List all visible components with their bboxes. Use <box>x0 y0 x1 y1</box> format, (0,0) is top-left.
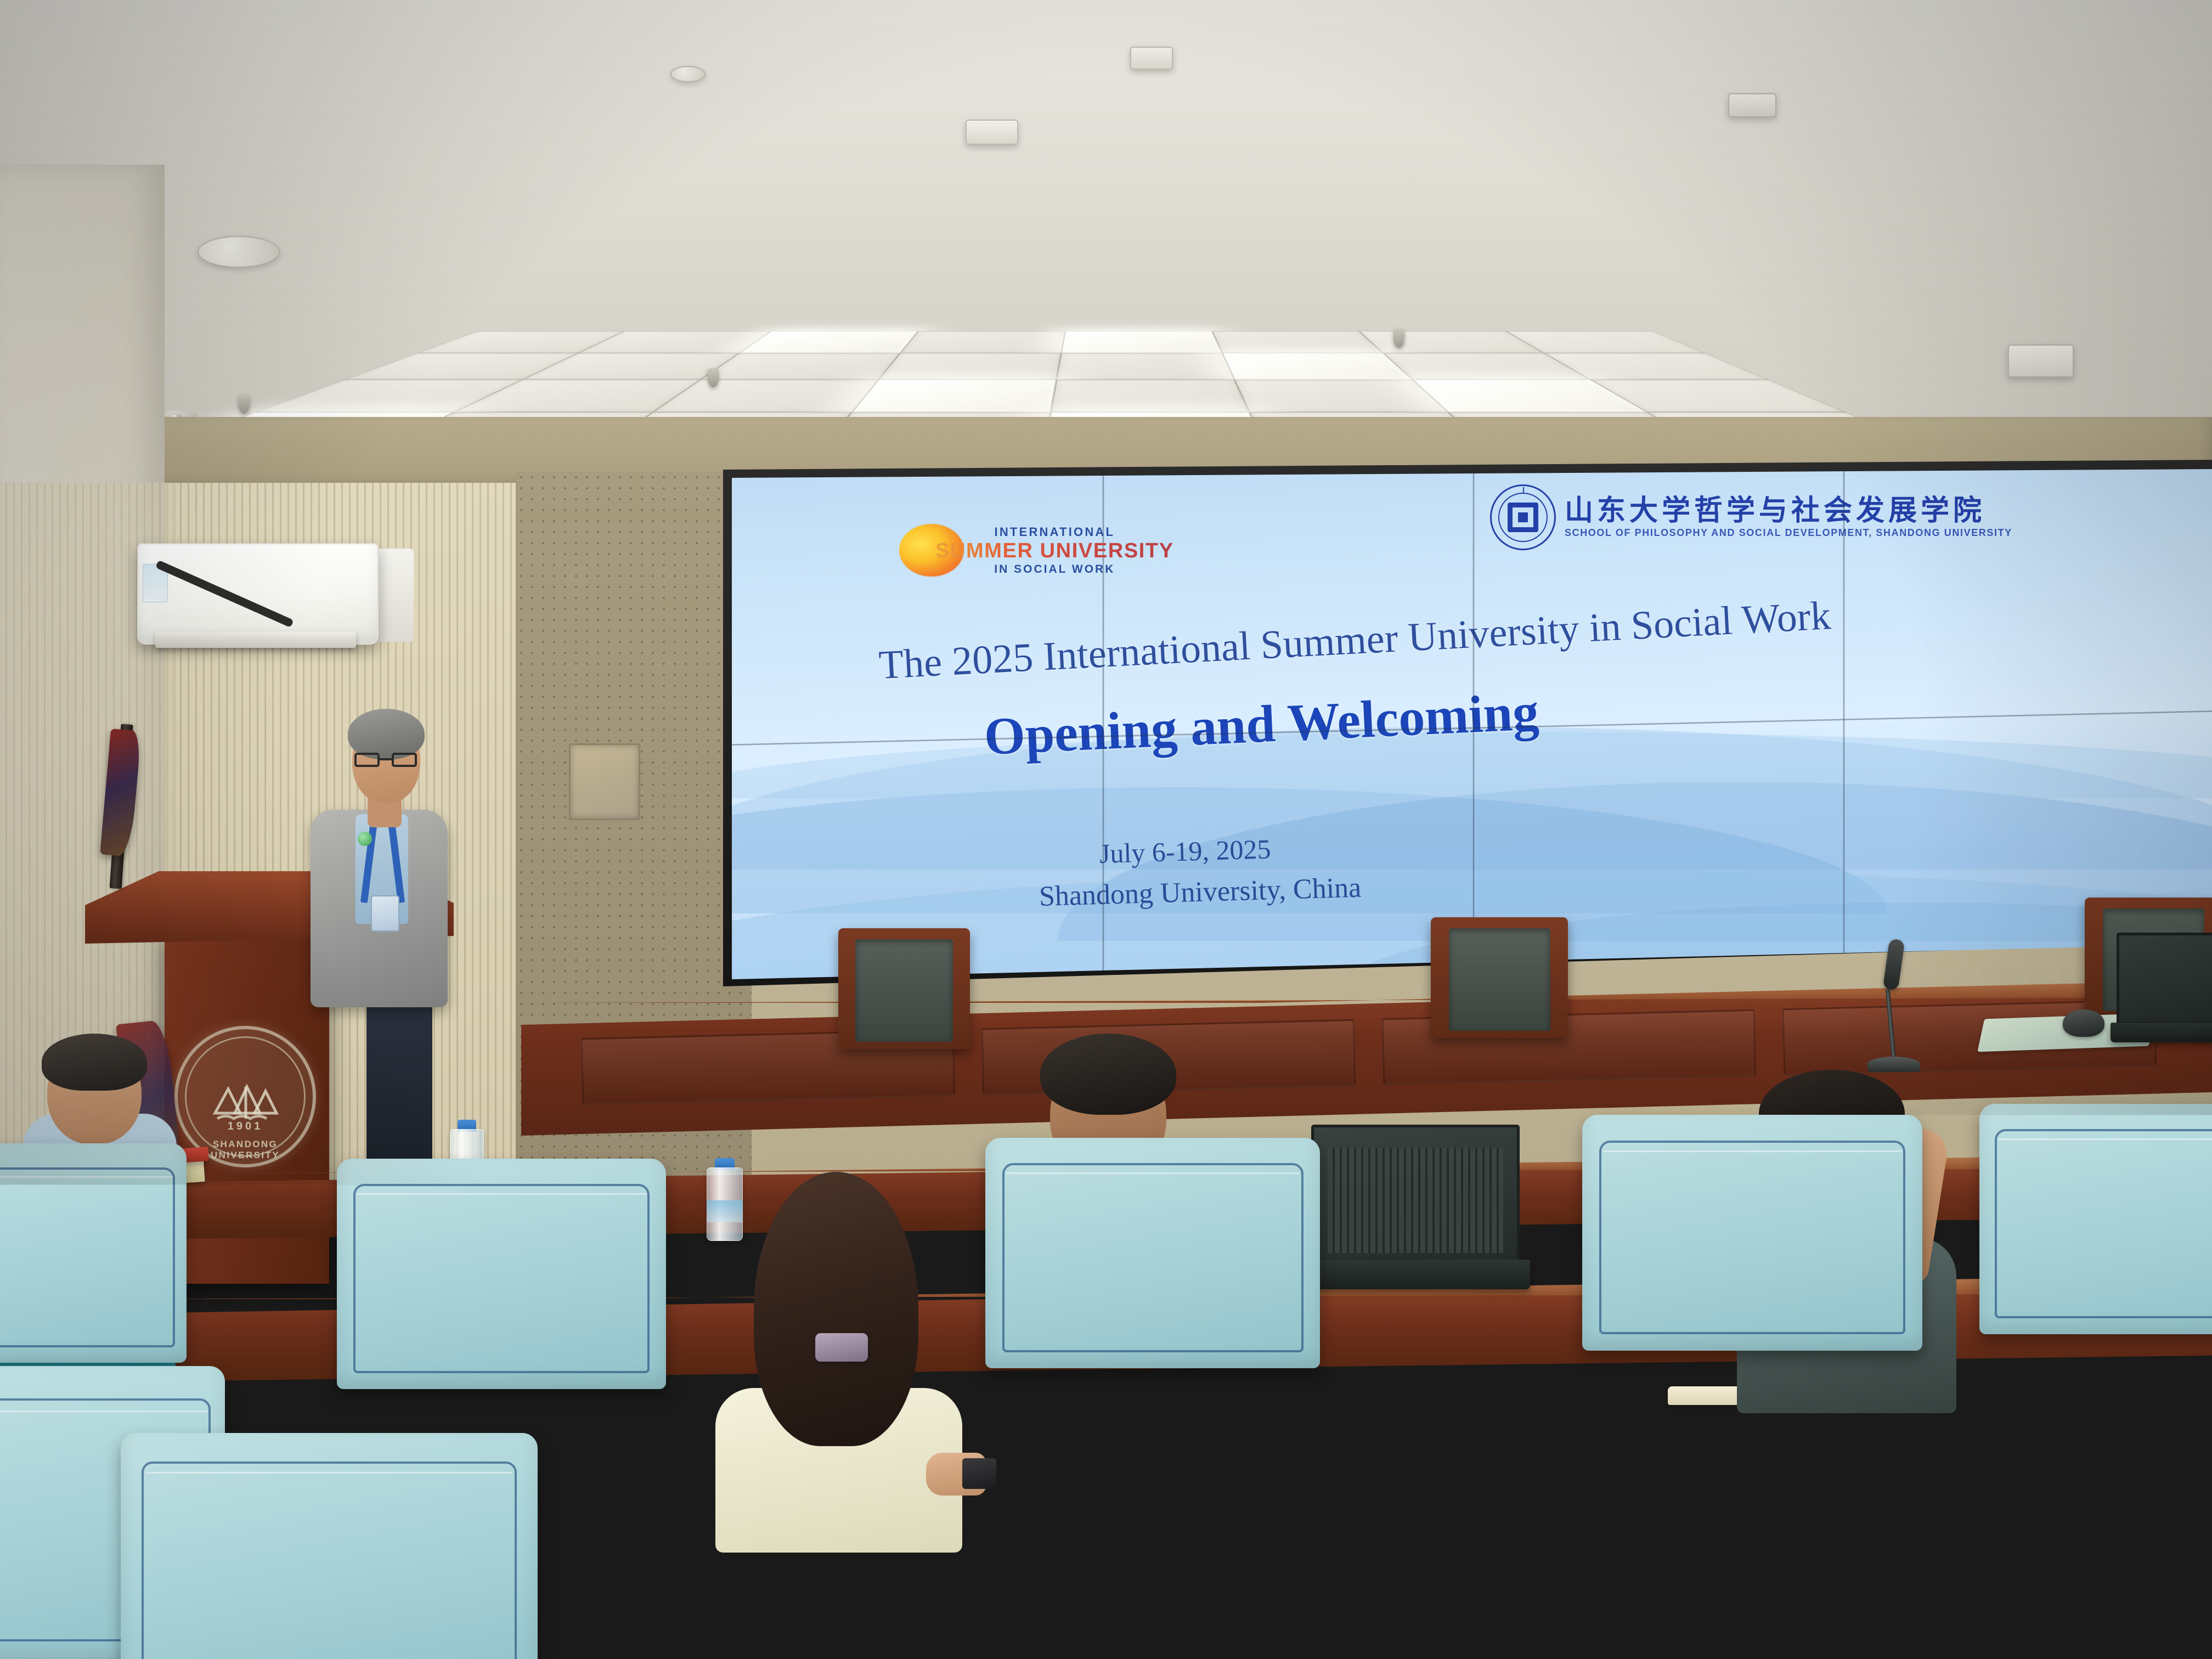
su-logo-bottom-line: IN SOCIAL WORK <box>935 563 1174 575</box>
head-table-chair[interactable] <box>838 928 970 1049</box>
head-table-chair[interactable] <box>1431 917 1568 1038</box>
audience-chair[interactable] <box>1979 1104 2212 1334</box>
slide-title-line-1: The 2025 International Summer University… <box>878 592 1832 689</box>
slide-title-line-2: Opening and Welcoming <box>983 681 1540 767</box>
su-logo-top-line: INTERNATIONAL <box>935 526 1174 538</box>
audience-chair-front[interactable] <box>614 1317 900 1481</box>
ceiling-light-panel <box>739 331 918 353</box>
computer-mouse[interactable] <box>2063 1009 2104 1037</box>
ceiling-light-panel <box>1061 331 1222 353</box>
clip-microphone-icon <box>358 832 372 846</box>
shandong-university-logo: 山东大学哲学与社会发展学院 SCHOOL OF PHILOSOPHY AND S… <box>1490 484 2012 550</box>
presentation-slide: INTERNATIONAL SUMMER UNIVERSITY IN SOCIA… <box>732 469 2212 979</box>
slide-location-line: Shandong University, China <box>1039 872 1362 913</box>
smoke-detector-icon <box>198 236 280 268</box>
audience-chair-front[interactable] <box>627 1475 1060 1659</box>
speaker-at-podium <box>291 697 466 1180</box>
air-conditioner-unit <box>137 543 379 645</box>
sprinkler-head-icon <box>708 369 719 387</box>
audience-laptop[interactable] <box>1311 1125 1520 1289</box>
conference-room-photo: INTERNATIONAL SUMMER UNIVERSITY IN SOCIA… <box>0 0 2212 1659</box>
audience-chair[interactable] <box>0 1143 187 1363</box>
ceiling-speaker-icon <box>966 120 1018 145</box>
ceiling-speaker-icon <box>1130 47 1173 70</box>
ceiling-light-panel <box>1222 353 1413 380</box>
ac-air-diffuser-icon <box>2008 345 2074 377</box>
mountain-emblem-icon <box>210 1079 281 1125</box>
audience-chair-front[interactable] <box>121 1433 538 1659</box>
shandong-seal-icon <box>1490 484 1556 550</box>
audience-chair-front[interactable] <box>1882 1436 2212 1659</box>
sdu-logo-english: SCHOOL OF PHILOSOPHY AND SOCIAL DEVELOPM… <box>1565 527 2012 539</box>
sprinkler-head-icon <box>1393 329 1404 348</box>
audience-chair[interactable] <box>1582 1115 1922 1351</box>
slide-date-line: July 6-19, 2025 <box>1099 833 1271 870</box>
smoke-detector-icon <box>670 66 706 82</box>
sprinkler-head-icon <box>239 395 250 414</box>
speaker-hair <box>348 709 425 759</box>
conference-microphone[interactable] <box>1867 939 1920 1072</box>
ac-vent-louver <box>155 631 356 648</box>
su-logo-mid-line: SUMMER UNIVERSITY <box>935 540 1174 561</box>
ceiling <box>0 0 2212 472</box>
glasses-icon <box>354 753 417 767</box>
ceiling-light-panel <box>852 380 1057 413</box>
video-wall-display[interactable]: INTERNATIONAL SUMMER UNIVERSITY IN SOCIA… <box>732 469 2212 979</box>
summer-university-logo: INTERNATIONAL SUMMER UNIVERSITY IN SOCIA… <box>899 524 1174 577</box>
head-table-laptop[interactable] <box>2117 933 2212 1042</box>
ceiling-speaker-icon <box>1728 93 1776 117</box>
wall-access-panel <box>569 743 640 820</box>
audience-chair[interactable] <box>985 1138 1320 1368</box>
name-badge <box>371 895 399 932</box>
video-wall-bezel-seam <box>1843 469 1845 979</box>
video-wall-bezel-seam <box>1472 469 1475 979</box>
sdu-logo-chinese: 山东大学哲学与社会发展学院 <box>1565 496 2012 525</box>
audience-chair-front[interactable] <box>1278 1466 1706 1659</box>
